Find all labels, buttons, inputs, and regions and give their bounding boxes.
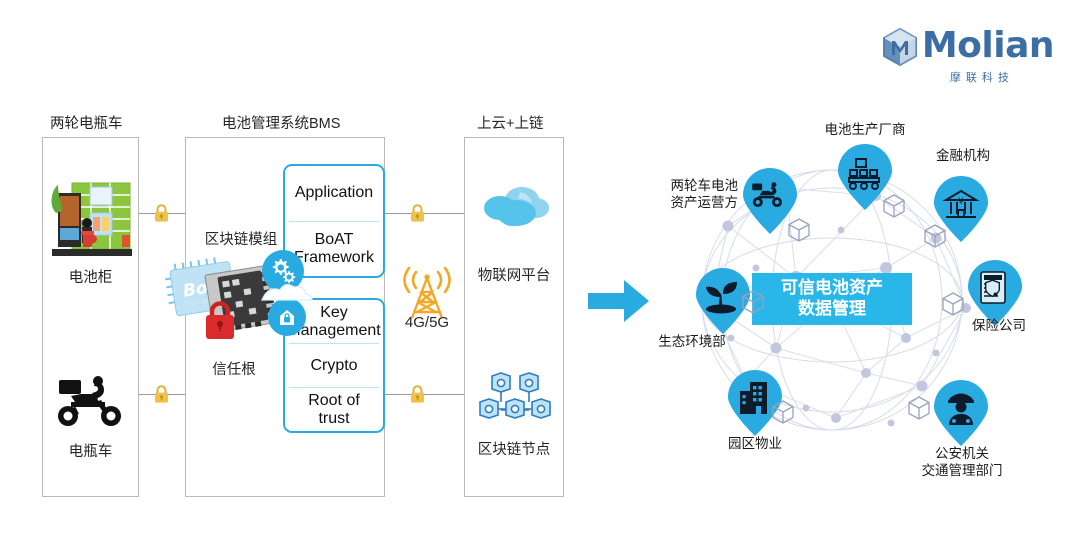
stage-title-cloud-chain: 上云+上链 xyxy=(477,112,543,133)
stack-cell-root-of-trust: Root of trust xyxy=(308,392,360,428)
network-node-insurance-label: 保险公司 xyxy=(972,318,1062,335)
logo-wordmark: Molian xyxy=(922,28,1054,64)
network-node-police[interactable] xyxy=(932,380,990,446)
antenna-tower-icon xyxy=(396,262,458,322)
network-node-insurance[interactable] xyxy=(966,260,1024,326)
caption-iot-platform: 物联网平台 xyxy=(464,264,564,285)
network-node-finance-label: 金融机构 xyxy=(918,148,1008,165)
cloud-icon xyxy=(476,180,552,236)
network-node-operator-label: 两轮车电池 资产运营方 xyxy=(642,178,738,212)
molian-cube-logo-icon xyxy=(880,26,920,66)
module-connector-swoosh-icon xyxy=(258,278,320,308)
padlock-icon xyxy=(153,203,170,223)
padlock-icon xyxy=(409,203,426,223)
cube-badge-icon xyxy=(788,218,810,247)
network-node-ecology-label: 生态环境部 xyxy=(636,334,748,351)
network-node-maker-label: 电池生产厂商 xyxy=(794,122,936,139)
caption-blockchain-node: 区块链节点 xyxy=(464,438,564,459)
stack-cell-crypto: Crypto xyxy=(310,357,357,375)
stack-cell-boat-framework: BoAT Framework xyxy=(294,231,374,267)
ecosystem-network: 可信电池资产 数据管理 两轮车电池 资产运营方 xyxy=(636,118,1056,498)
scooter-icon xyxy=(51,372,130,428)
blockchain-nodes-icon xyxy=(478,372,552,426)
diagram-canvas: Molian 摩联科技 两轮电瓶车 xyxy=(0,0,1080,541)
stage-title-bms: 电池管理系统BMS xyxy=(222,112,340,133)
caption-battery-cabinet: 电池柜 xyxy=(42,266,139,287)
battery-cabinet-illustration-icon xyxy=(44,165,138,260)
cube-badge-icon xyxy=(742,290,764,319)
label-radio-4g5g: 4G/5G xyxy=(396,314,458,331)
caption-scooter: 电瓶车 xyxy=(42,440,139,461)
cube-badge-icon xyxy=(942,292,964,321)
svg-text:¥: ¥ xyxy=(958,197,964,207)
padlock-icon xyxy=(409,384,426,404)
center-label: 可信电池资产 数据管理 xyxy=(752,273,912,325)
network-node-police-label: 公安机关 交通管理部门 xyxy=(901,446,1023,480)
cube-badge-icon xyxy=(772,400,794,429)
label-blockchain-module: 区块链模组 xyxy=(186,228,296,249)
network-node-property-label: 园区物业 xyxy=(706,436,804,453)
padlock-icon xyxy=(153,384,170,404)
logo-subtitle: 摩联科技 xyxy=(920,69,1014,85)
brand-logo: Molian 摩联科技 xyxy=(880,26,1054,85)
label-trust-root: 信任根 xyxy=(186,358,282,379)
cube-badge-icon xyxy=(908,396,930,425)
stack-cell-application: Application xyxy=(295,184,373,202)
cube-badge-icon xyxy=(924,224,946,253)
cube-badge-icon xyxy=(883,194,905,223)
stage-title-two-wheeler: 两轮电瓶车 xyxy=(50,112,123,133)
